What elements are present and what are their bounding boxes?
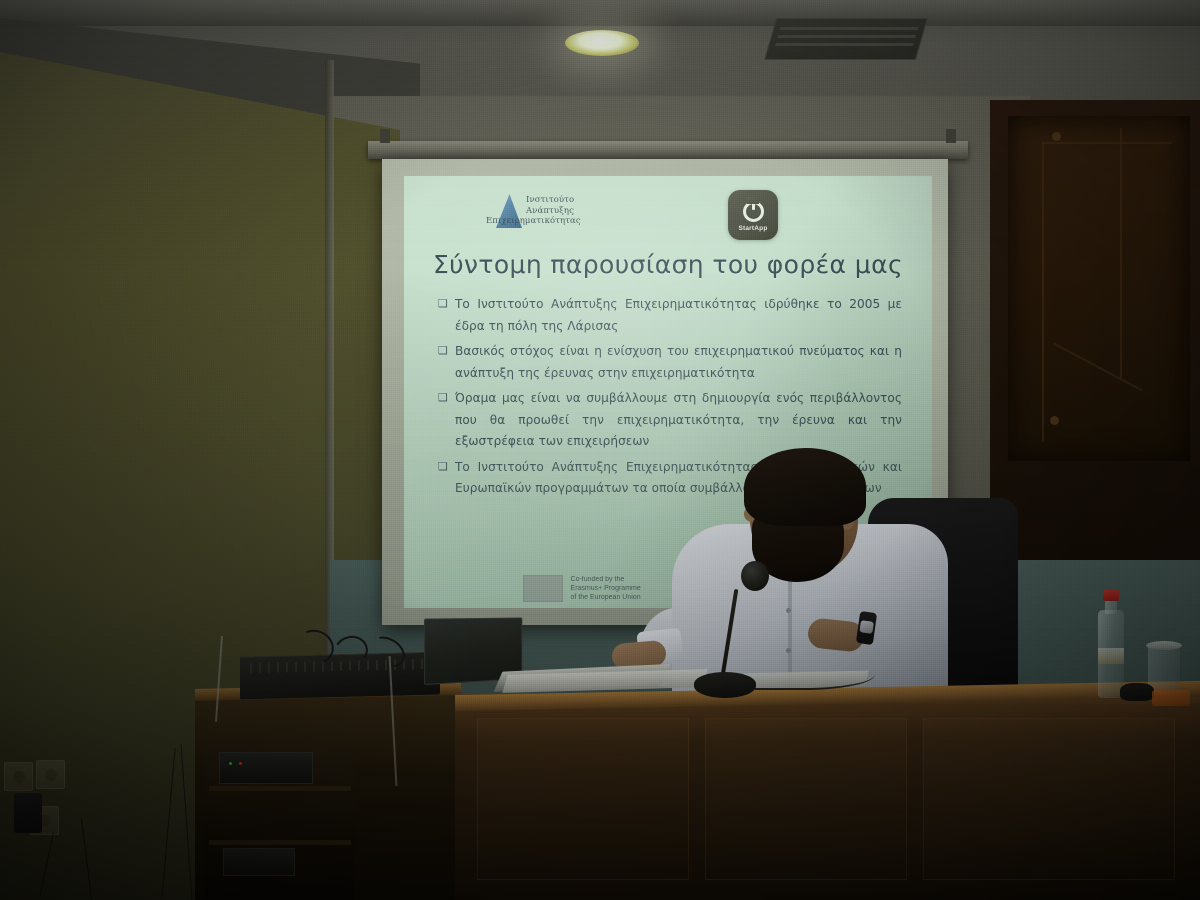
slide-bullet-item: Όραμα μας είναι να συμβάλλουμε στη δημιο…: [438, 388, 902, 453]
wooden-panel-desk: [455, 694, 1200, 900]
dark-wooden-door[interactable]: [1008, 116, 1190, 461]
gooseneck-microphone-icon: [741, 561, 769, 591]
slide-title: Σύντομη παρουσίαση του φορέα μας: [422, 250, 914, 280]
eu-flag-icon: [523, 575, 563, 602]
orange-object: [1152, 690, 1190, 706]
institute-logo-line-2: Ανάπτυξης: [526, 206, 581, 217]
eu-text-line-3: of the European Union: [571, 593, 641, 602]
bottle-label: [1098, 648, 1124, 664]
equipment-rack: [205, 740, 355, 900]
air-vent-icon: [764, 18, 928, 60]
institute-logo-line-1: Ινστιτούτο: [526, 195, 581, 206]
eu-text-line-2: Erasmus+ Programme: [571, 584, 641, 593]
wall-socket[interactable]: [36, 760, 65, 789]
bottle-cap[interactable]: [1103, 590, 1119, 601]
keys-object[interactable]: [1120, 683, 1154, 701]
power-button-icon: [743, 201, 764, 222]
glass-rim: [1146, 641, 1182, 650]
eu-funding-text: Co-funded by the Erasmus+ Programme of t…: [571, 575, 641, 602]
institute-logo: Ινστιτούτο Ανάπτυξης Επιχειρηματικότητας: [496, 194, 581, 228]
power-adapter-plug[interactable]: [14, 793, 42, 833]
speaker-hair: [744, 448, 866, 526]
conference-room-photo: Ινστιτούτο Ανάπτυξης Επιχειρηματικότητας…: [0, 0, 1200, 900]
slide-logo-row: Ινστιτούτο Ανάπτυξης Επιχειρηματικότητας…: [422, 186, 914, 248]
projection-screen-roller: [368, 141, 968, 159]
wall-socket[interactable]: [4, 762, 33, 791]
microphone-base[interactable]: [694, 672, 756, 698]
eu-text-line-1: Co-funded by the: [571, 575, 641, 584]
spark-icon: [511, 196, 519, 204]
slide-bullet-item: Το Ινστιτούτο Ανάπτυξης Επιχειρηματικότη…: [438, 294, 902, 337]
startapp-logo: StartApp: [728, 190, 778, 240]
institute-logo-text: Ινστιτούτο Ανάπτυξης Επιχειρηματικότητας: [526, 195, 581, 227]
recessed-spotlight-icon: [565, 30, 639, 56]
slide-bullet-item: Βασικός στόχος είναι η ενίσχυση του επιχ…: [438, 341, 902, 384]
startapp-label: StartApp: [738, 225, 767, 232]
institute-logo-line-3: Επιχειρηματικότητας: [486, 216, 581, 227]
eu-funding-block: Co-funded by the Erasmus+ Programme of t…: [523, 575, 641, 602]
ceiling-edge-beam: [0, 0, 1200, 26]
